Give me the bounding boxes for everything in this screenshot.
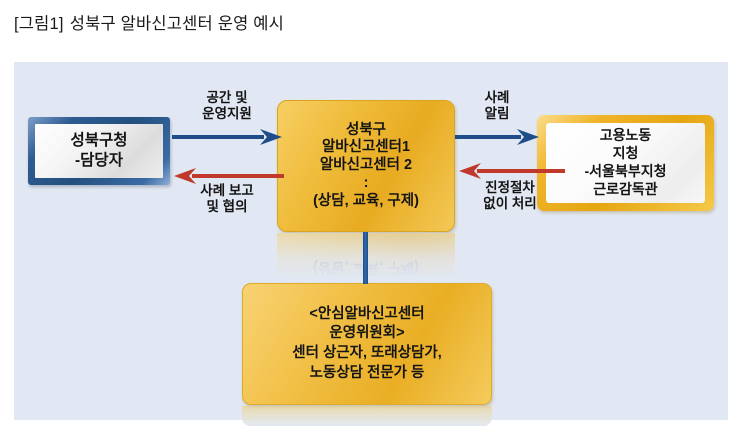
- node-district-office-panel: 성북구청 -담당자: [35, 124, 163, 178]
- figure-caption-text: 성북구 알바신고센터 운영 예시: [70, 15, 284, 33]
- figure-caption-tag: [그림1]: [14, 15, 64, 33]
- arrow-case-notification-label: 사례 알림: [455, 90, 539, 123]
- arrow-case-report-and-consult: 사례 보고 및 협의: [170, 167, 284, 227]
- arrow-handle-without-petition-label: 진정절차 없이 처리: [455, 180, 565, 213]
- node-alba-report-center[interactable]: 성북구 알바신고센터1 알바신고센터 2 : (상담, 교육, 구제): [277, 100, 455, 232]
- arrow-case-notification: 사례 알림: [455, 90, 539, 148]
- node-labor-office-label: 고용노동 지청 -서울북부지청 근로감독관: [585, 127, 667, 199]
- arrow-right-blue-icon: [455, 128, 539, 146]
- arrow-right-blue-icon: [172, 128, 282, 146]
- connector-center-to-committee: [363, 232, 368, 284]
- node-district-office[interactable]: 성북구청 -담당자: [28, 117, 170, 185]
- arrow-space-and-operation-support: 공간 및 운영지원: [172, 90, 282, 148]
- node-operating-committee[interactable]: <안심알바신고센터 운영위원회> 센터 상근자, 또래상담가, 노동상담 전문가…: [242, 283, 492, 405]
- arrow-case-report-and-consult-label: 사례 보고 및 협의: [170, 183, 284, 216]
- node-alba-report-center-label: 성북구 알바신고센터1 알바신고센터 2 : (상담, 교육, 구제): [313, 122, 419, 210]
- figure-caption: [그림1]성북구 알바신고센터 운영 예시: [14, 10, 284, 34]
- arrow-handle-without-petition: 진정절차 없이 처리: [455, 162, 565, 224]
- node-operating-committee-label: <안심알바신고센터 운영위원회> 센터 상근자, 또래상담가, 노동상담 전문가…: [292, 305, 442, 383]
- node-labor-office-panel: 고용노동 지청 -서울북부지청 근로감독관: [546, 123, 705, 203]
- arrow-space-and-operation-support-label: 공간 및 운영지원: [172, 90, 282, 123]
- node-district-office-label: 성북구청 -담당자: [70, 131, 127, 171]
- node-operating-committee-reflection: [242, 406, 492, 426]
- arrow-left-red-icon: [455, 162, 565, 180]
- diagram-canvas: 성북구청 -담당자 성북구 알바신고센터1 알바신고센터 2 : (상담, 교육…: [14, 62, 728, 420]
